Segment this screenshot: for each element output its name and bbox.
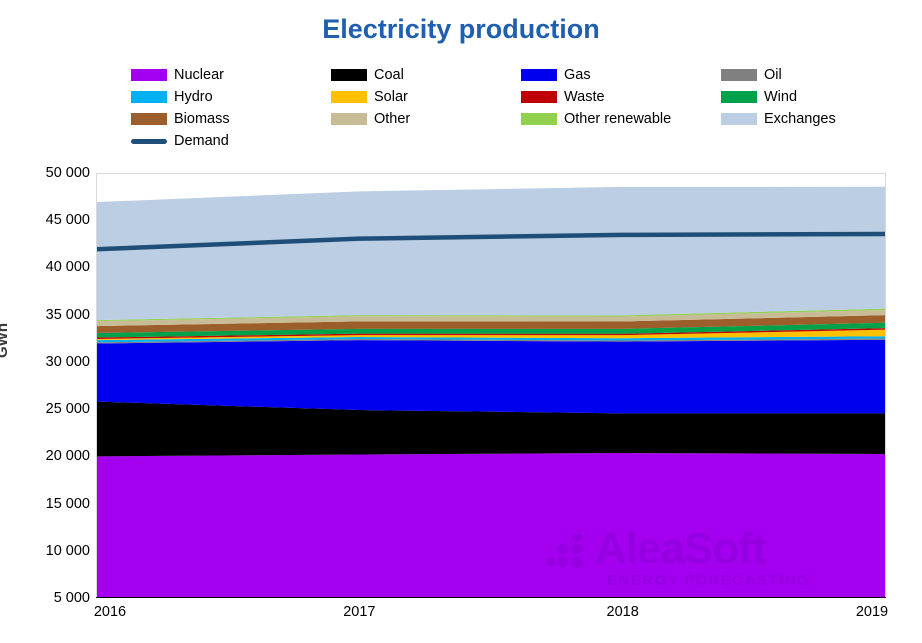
legend-swatch-icon [331,69,367,81]
plot-area [96,173,886,598]
y-axis-tick: 15 000 [4,496,90,512]
y-axis-tick: 40 000 [4,259,90,275]
legend-item-label: Gas [564,67,591,83]
legend-item-exchanges[interactable]: Exchanges [721,108,891,130]
y-axis-tick: 20 000 [4,448,90,464]
x-axis-tick-labels: 2016201720182019 [96,604,886,626]
legend-item-coal[interactable]: Coal [331,64,521,86]
y-axis-tick: 45 000 [4,212,90,228]
legend-swatch-icon [131,113,167,125]
legend-swatch-icon [521,69,557,81]
legend-swatch-icon [331,91,367,103]
legend-item-label: Other renewable [564,111,671,127]
legend-swatch-icon [331,113,367,125]
legend-item-label: Oil [764,67,782,83]
x-axis-tick: 2018 [607,604,639,620]
legend-item-label: Biomass [174,111,230,127]
legend-swatch-icon [131,69,167,81]
legend-item-solar[interactable]: Solar [331,86,521,108]
legend-item-label: Hydro [174,89,213,105]
legend-item-label: Solar [374,89,408,105]
legend-item-other-renewable[interactable]: Other renewable [521,108,721,130]
legend-swatch-icon [521,91,557,103]
legend-item-other[interactable]: Other [331,108,521,130]
x-axis-tick: 2017 [343,604,375,620]
y-axis-tick: 50 000 [4,165,90,181]
y-axis-tick: 30 000 [4,354,90,370]
y-axis-tick-labels: 50 00045 00040 00035 00030 00025 00020 0… [0,0,90,643]
chart-legend: NuclearCoalGasOilHydroSolarWasteWindBiom… [131,64,891,152]
legend-swatch-icon [131,139,167,144]
legend-item-label: Demand [174,133,229,149]
x-axis-tick: 2019 [856,604,888,620]
y-axis-tick: 35 000 [4,307,90,323]
legend-item-oil[interactable]: Oil [721,64,891,86]
y-axis-title: GWh [0,323,11,358]
legend-swatch-icon [131,91,167,103]
legend-item-label: Other [374,111,410,127]
legend-item-label: Coal [374,67,404,83]
chart-title: Electricity production [0,14,922,45]
electricity-production-chart: Electricity production NuclearCoalGasOil… [0,0,922,643]
y-axis-tick: 25 000 [4,401,90,417]
legend-swatch-icon [721,113,757,125]
stacked-area-svg [96,173,886,598]
legend-swatch-icon [721,69,757,81]
x-axis-tick: 2016 [94,604,126,620]
legend-item-biomass[interactable]: Biomass [131,108,331,130]
y-axis-tick: 5 000 [4,590,90,606]
legend-item-label: Wind [764,89,797,105]
legend-item-demand[interactable]: Demand [131,130,331,152]
legend-item-waste[interactable]: Waste [521,86,721,108]
legend-item-label: Waste [564,89,605,105]
area-series-exchanges [96,187,886,320]
legend-item-gas[interactable]: Gas [521,64,721,86]
area-series-nuclear [96,453,886,598]
y-axis-tick: 10 000 [4,543,90,559]
legend-item-label: Nuclear [174,67,224,83]
legend-swatch-icon [521,113,557,125]
legend-item-label: Exchanges [764,111,836,127]
legend-item-wind[interactable]: Wind [721,86,891,108]
legend-item-hydro[interactable]: Hydro [131,86,331,108]
legend-item-nuclear[interactable]: Nuclear [131,64,331,86]
area-series-gas [96,340,886,414]
legend-swatch-icon [721,91,757,103]
